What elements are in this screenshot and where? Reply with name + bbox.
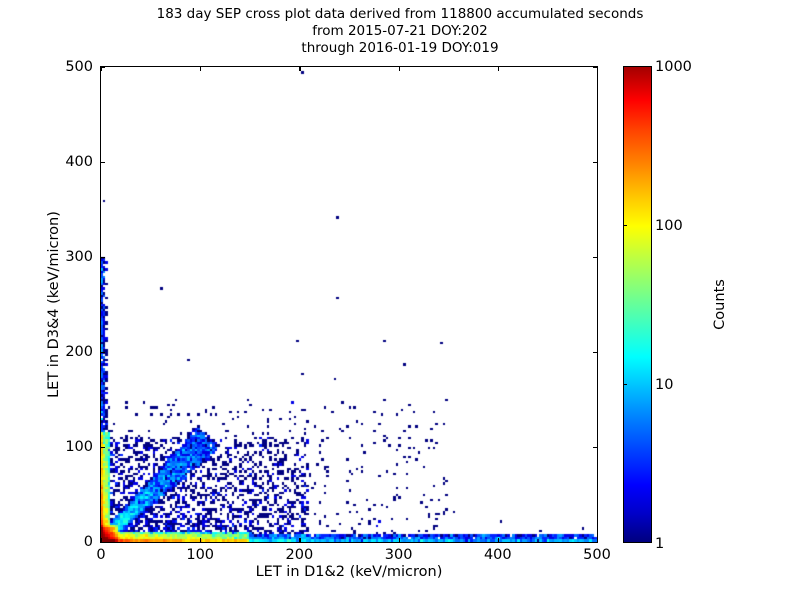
x-tick-mark <box>498 538 499 542</box>
plot-area[interactable] <box>100 66 598 543</box>
scatter-points-layer <box>101 67 597 542</box>
x-tick-label: 300 <box>385 547 413 563</box>
title-line-1: 183 day SEP cross plot data derived from… <box>0 6 800 23</box>
y-tick-mark <box>593 352 597 353</box>
y-tick-label: 0 <box>84 534 93 550</box>
y-tick-label: 400 <box>65 154 93 170</box>
x-tick-label: 100 <box>186 547 214 563</box>
x-tick-mark <box>200 67 201 71</box>
x-tick-label: 200 <box>286 547 314 563</box>
colorbar-tick-label: 100 <box>655 218 683 234</box>
colorbar-tick-mark <box>623 225 627 226</box>
x-tick-mark <box>399 538 400 542</box>
y-tick-mark <box>101 257 105 258</box>
x-tick-label: 400 <box>484 547 512 563</box>
colorbar-tick-label: 10 <box>655 377 673 393</box>
y-tick-mark <box>101 447 105 448</box>
colorbar-tick-mark <box>623 384 627 385</box>
colorbar-label: Counts <box>712 66 728 543</box>
y-tick-mark <box>593 162 597 163</box>
x-tick-mark <box>498 67 499 71</box>
title-line-2: from 2015-07-21 DOY:202 <box>0 23 800 40</box>
y-tick-mark <box>101 542 105 543</box>
y-tick-mark <box>593 447 597 448</box>
x-tick-label: 0 <box>96 547 105 563</box>
chart-title: 183 day SEP cross plot data derived from… <box>0 6 800 57</box>
y-tick-mark <box>593 542 597 543</box>
colorbar[interactable] <box>623 66 652 543</box>
title-line-3: through 2016-01-19 DOY:019 <box>0 40 800 57</box>
x-tick-mark <box>200 538 201 542</box>
y-tick-label: 200 <box>65 344 93 360</box>
colorbar-gradient <box>623 66 652 543</box>
colorbar-tick-label: 1 <box>655 536 664 552</box>
colorbar-tick-label: 1000 <box>655 59 692 75</box>
y-tick-mark <box>101 162 105 163</box>
y-tick-mark <box>593 67 597 68</box>
x-tick-label: 500 <box>583 547 611 563</box>
y-tick-mark <box>101 352 105 353</box>
x-tick-mark <box>399 67 400 71</box>
x-axis-label: LET in D1&2 (keV/micron) <box>100 564 598 580</box>
x-tick-mark <box>299 67 300 71</box>
x-tick-mark <box>597 67 598 71</box>
y-tick-label: 300 <box>65 249 93 265</box>
x-tick-mark <box>597 538 598 542</box>
y-tick-label: 100 <box>65 439 93 455</box>
y-tick-mark <box>593 257 597 258</box>
figure-canvas: 183 day SEP cross plot data derived from… <box>0 0 800 600</box>
x-tick-mark <box>299 538 300 542</box>
y-tick-mark <box>101 67 105 68</box>
y-tick-label: 500 <box>65 59 93 75</box>
y-axis-label: LET in D3&4 (keV/micron) <box>46 66 62 543</box>
